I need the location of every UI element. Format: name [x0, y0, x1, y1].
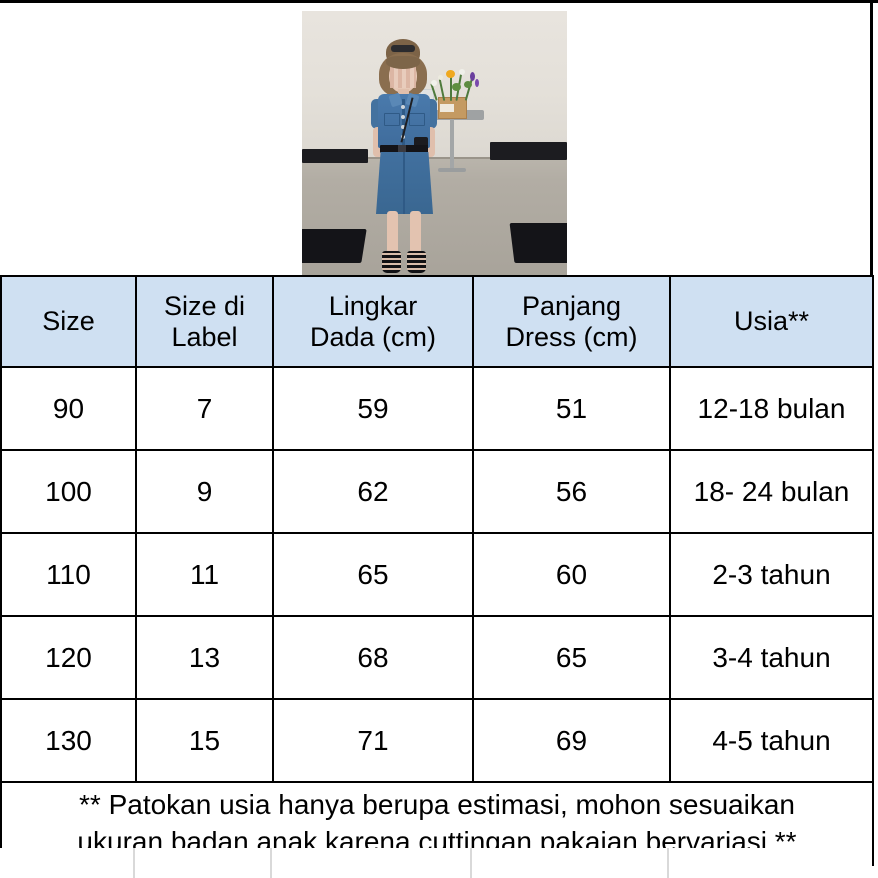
model-button	[401, 105, 405, 109]
cell-dress-length: 56	[473, 450, 670, 533]
column-header-usia-line1: Usia**	[734, 306, 809, 336]
column-header-size: Size	[1, 276, 136, 367]
partial-row-separator	[270, 848, 272, 878]
cell-dress-length: 65	[473, 616, 670, 699]
cell-dress-length: 60	[473, 533, 670, 616]
photo-bench-right-front	[510, 223, 567, 263]
table-row: 130 15 71 69 4-5 tahun	[1, 699, 873, 782]
size-chart-page: Size Size di Label Lingkar Dada (cm) Pan…	[0, 0, 878, 878]
cell-size-label: 7	[136, 367, 273, 450]
partial-row-separator	[470, 848, 472, 878]
partial-row-separator	[667, 848, 669, 878]
age-estimate-note-line1: ** Patokan usia hanya berupa estimasi, m…	[79, 789, 795, 820]
table-row: 90 7 59 51 12-18 bulan	[1, 367, 873, 450]
column-header-panjang-dress-line2: Dress (cm)	[506, 322, 638, 352]
photo-band	[0, 0, 878, 275]
cell-age: 4-5 tahun	[670, 699, 873, 782]
cell-size-label: 13	[136, 616, 273, 699]
table-header-row: Size Size di Label Lingkar Dada (cm) Pan…	[1, 276, 873, 367]
product-photo	[302, 11, 567, 278]
size-chart-table: Size Size di Label Lingkar Dada (cm) Pan…	[0, 275, 874, 866]
column-header-usia: Usia**	[670, 276, 873, 367]
cell-age: 12-18 bulan	[670, 367, 873, 450]
cell-size: 130	[1, 699, 136, 782]
cell-dress-length: 51	[473, 367, 670, 450]
column-header-lingkar-dada-line2: Dada (cm)	[310, 322, 436, 352]
model-bangs	[386, 56, 420, 69]
column-header-size-di-label-line1: Size di	[164, 291, 245, 321]
column-header-lingkar-dada: Lingkar Dada (cm)	[273, 276, 473, 367]
cell-chest: 62	[273, 450, 473, 533]
cell-size: 110	[1, 533, 136, 616]
cell-age: 18- 24 bulan	[670, 450, 873, 533]
partial-row-separator	[133, 848, 135, 878]
cell-size-label: 11	[136, 533, 273, 616]
photo-child-model	[362, 39, 448, 278]
photo-bench-right-back	[490, 142, 567, 160]
table-row: 100 9 62 56 18- 24 bulan	[1, 450, 873, 533]
cell-chest: 71	[273, 699, 473, 782]
model-skirt-seam	[403, 152, 405, 214]
model-button	[401, 115, 405, 119]
table-row: 110 11 65 60 2-3 tahun	[1, 533, 873, 616]
photo-side-table-leg	[450, 118, 454, 170]
column-header-size-di-label: Size di Label	[136, 276, 273, 367]
column-header-panjang-dress: Panjang Dress (cm)	[473, 276, 670, 367]
model-sandal-right	[407, 251, 426, 273]
cell-size: 120	[1, 616, 136, 699]
photo-bench-left-front	[302, 229, 367, 263]
cell-chest: 68	[273, 616, 473, 699]
table-partial-row-below	[0, 848, 872, 878]
cell-size-label: 15	[136, 699, 273, 782]
photo-bench-left-back	[302, 149, 368, 163]
model-sunglasses-icon	[391, 45, 415, 52]
column-header-panjang-dress-line1: Panjang	[522, 291, 621, 321]
cell-age: 3-4 tahun	[670, 616, 873, 699]
cell-size: 100	[1, 450, 136, 533]
column-header-size-di-label-line2: Label	[171, 322, 237, 352]
cell-dress-length: 69	[473, 699, 670, 782]
cell-size: 90	[1, 367, 136, 450]
table-row: 120 13 68 65 3-4 tahun	[1, 616, 873, 699]
column-header-lingkar-dada-line1: Lingkar	[329, 291, 418, 321]
model-chest-pocket-left	[384, 113, 400, 126]
model-chest-pocket-right	[409, 113, 425, 126]
column-header-size-line1: Size	[42, 306, 95, 336]
cell-age: 2-3 tahun	[670, 533, 873, 616]
cell-chest: 59	[273, 367, 473, 450]
model-sandal-left	[382, 251, 401, 273]
cell-size-label: 9	[136, 450, 273, 533]
cell-chest: 65	[273, 533, 473, 616]
